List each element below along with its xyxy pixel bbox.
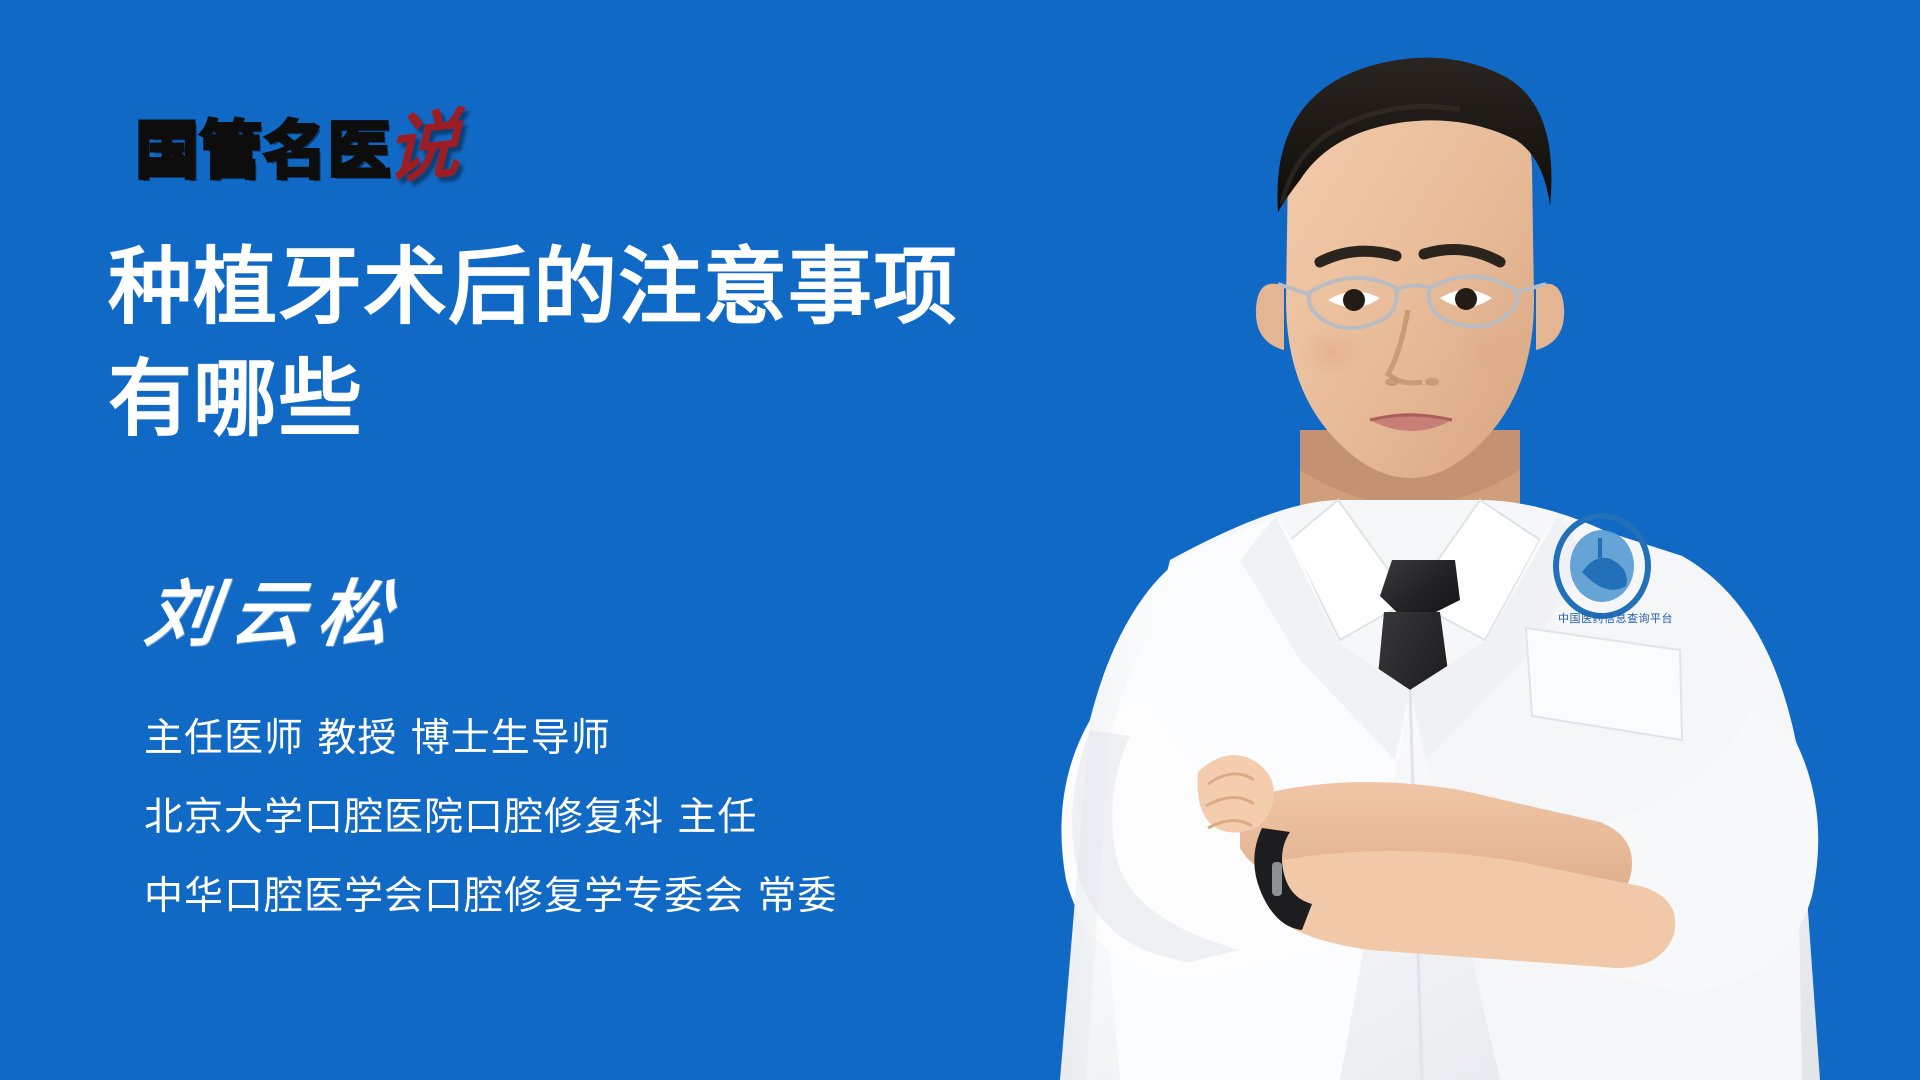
lab-coat bbox=[1060, 516, 1820, 1080]
credential-line-3: 中华口腔医学会口腔修复学专委会 常委 bbox=[144, 876, 837, 919]
doctor-name: 刘云松 bbox=[142, 578, 409, 650]
ear-left bbox=[1256, 284, 1284, 350]
coat-button bbox=[1375, 811, 1393, 829]
eye-left bbox=[1328, 291, 1380, 307]
title-line-1: 种植牙术后的注意事项 bbox=[108, 232, 1158, 344]
shirt-collar-left bbox=[1290, 500, 1410, 640]
poster-canvas: 中国医药信息查询平台 bbox=[0, 0, 1920, 1080]
coat-badge-text: 中国医药信息查询平台 bbox=[1558, 611, 1673, 625]
forearm-lower bbox=[1240, 782, 1632, 914]
coat-sleeve-left bbox=[1061, 700, 1370, 980]
neck bbox=[1300, 430, 1520, 590]
hand-fingers bbox=[1198, 755, 1274, 833]
coat-chest-pocket bbox=[1526, 628, 1682, 740]
lab-coat-left-panel bbox=[1090, 516, 1410, 1080]
brand-logo: 国管名医 说 bbox=[136, 98, 460, 182]
page-title: 种植牙术后的注意事项 有哪些 bbox=[108, 232, 1158, 455]
face bbox=[1286, 78, 1534, 478]
doctor-portrait: 中国医药信息查询平台 bbox=[940, 0, 1920, 1080]
doctor-credentials: 主任医师 教授 博士生导师 北京大学口腔医院口腔修复科 主任 中华口腔医学会口腔… bbox=[144, 718, 837, 919]
nose bbox=[1388, 310, 1422, 383]
ear-right bbox=[1536, 284, 1564, 350]
credential-line-2: 北京大学口腔医院口腔修复科 主任 bbox=[144, 797, 837, 840]
eyebrow-left bbox=[1320, 251, 1396, 262]
tie-knot bbox=[1380, 560, 1460, 625]
eye-right bbox=[1440, 290, 1492, 307]
shirt bbox=[1140, 500, 1700, 680]
title-line-2: 有哪些 bbox=[108, 344, 1158, 456]
brand-logo-main-text: 国管名医 bbox=[136, 120, 392, 182]
eyeglasses bbox=[1278, 276, 1546, 328]
coat-badge bbox=[1556, 516, 1648, 616]
mouth bbox=[1370, 413, 1452, 431]
hair bbox=[1277, 58, 1551, 212]
lab-coat-right-panel bbox=[1410, 516, 1802, 1080]
credential-line-1: 主任医师 教授 博士生导师 bbox=[144, 718, 837, 761]
eyebrow-right bbox=[1424, 250, 1500, 263]
forearm-upper bbox=[1270, 851, 1675, 968]
wristband bbox=[1254, 828, 1312, 930]
shirt-collar-right bbox=[1410, 500, 1540, 640]
brand-logo-accent-text: 说 bbox=[386, 111, 460, 186]
coat-sleeve-right bbox=[1496, 706, 1818, 992]
tie-body bbox=[1370, 612, 1460, 800]
